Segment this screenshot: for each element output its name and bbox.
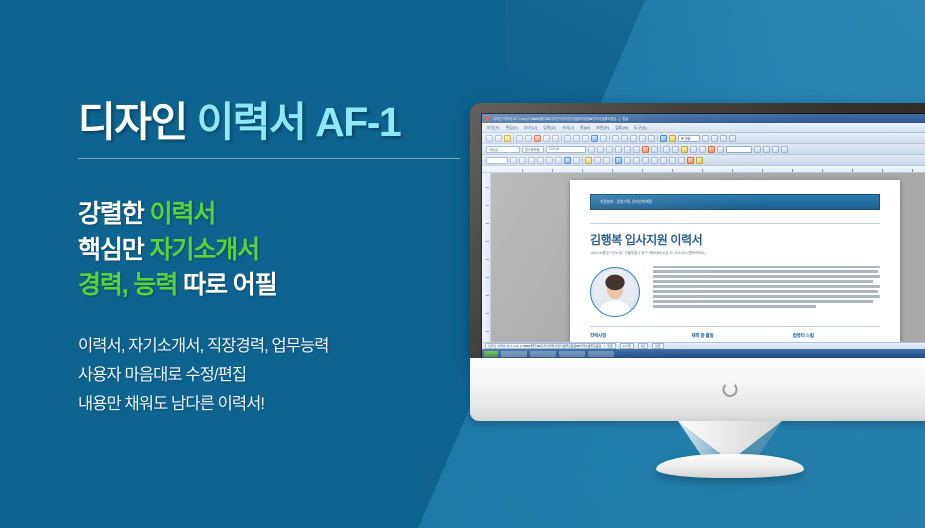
menu-item-security[interactable]: 보안(R) bbox=[596, 125, 609, 131]
tagline-3-highlight: 경력, 능력 bbox=[78, 271, 177, 299]
app-menubar: 파일(F) 편집(E) 보기(U) 입력(D) 서식(J) 쪽(W) 보안(R)… bbox=[482, 123, 925, 133]
insert-table-icon[interactable] bbox=[612, 135, 619, 142]
undo-icon[interactable] bbox=[543, 135, 550, 142]
resume-photo-wrapper bbox=[590, 266, 642, 317]
draw-arc-icon[interactable] bbox=[546, 157, 553, 164]
strikethrough-icon[interactable] bbox=[633, 146, 640, 153]
education-heading: 학력사항 bbox=[590, 333, 677, 339]
align-right-icon[interactable] bbox=[708, 146, 715, 153]
tagline-3-suffix: 따로 어필 bbox=[183, 271, 276, 299]
resume-intro-section bbox=[590, 266, 880, 317]
resume-title: 김행복 입사지원 이력서 bbox=[590, 231, 880, 248]
promo-copy-block: 디자인 이력서 AF-1 강렬한 이력서 핵심만 자기소개서 경력, 능력 따로… bbox=[78, 100, 478, 419]
redo-icon[interactable] bbox=[552, 135, 559, 142]
monitor-bezel: 디자인 이력서 AF-1.hwp [C:₩₩새폴더₩디자인이력서양식샘플모음집₩… bbox=[470, 103, 925, 358]
resume-rule-bottom bbox=[590, 326, 880, 327]
tagline-list: 강렬한 이력서 핵심만 자기소개서 경력, 능력 따로 어필 bbox=[78, 197, 478, 304]
highlight-icon[interactable] bbox=[651, 146, 658, 153]
tagline-2: 핵심만 자기소개서 bbox=[78, 233, 478, 269]
font-family-select[interactable]: 함초롬바탕 bbox=[522, 146, 544, 153]
subscript-icon[interactable] bbox=[672, 146, 679, 153]
promotional-banner: 디자인 이력서 AF-1 강렬한 이력서 핵심만 자기소개서 경력, 능력 따로… bbox=[0, 0, 925, 528]
format-brush-icon[interactable] bbox=[591, 135, 598, 142]
resume-intro-paragraph bbox=[653, 266, 880, 311]
zoom-out-icon[interactable] bbox=[711, 135, 718, 142]
font-color-icon[interactable] bbox=[642, 146, 649, 153]
resume-columns: 학력사항 서울특별시 행복대학교 졸업 1997.03~2000.02 재학 중… bbox=[590, 333, 880, 342]
resume-rule-top bbox=[590, 223, 880, 224]
menu-item-review[interactable]: 검토(H) bbox=[615, 125, 628, 131]
bullet-list-icon[interactable] bbox=[772, 146, 779, 153]
order-back-icon[interactable] bbox=[660, 157, 667, 164]
menu-item-tools[interactable]: 도구(K) bbox=[634, 125, 647, 131]
align-center-icon[interactable] bbox=[699, 146, 706, 153]
indent-increase-icon[interactable] bbox=[754, 146, 761, 153]
toolbar-separator bbox=[561, 134, 562, 142]
toolbar-standard: 폭 맞춤 bbox=[482, 133, 925, 144]
draw-textbox-icon[interactable] bbox=[573, 157, 580, 164]
align-objects-icon[interactable] bbox=[624, 157, 631, 164]
draw-polygon-icon[interactable] bbox=[555, 157, 562, 164]
start-button[interactable] bbox=[484, 351, 498, 357]
resume-field-text: 지원분야 : 경영기획, 온라인마케팅 bbox=[600, 200, 652, 205]
order-front-icon[interactable] bbox=[651, 157, 658, 164]
feature-bullet-3: 내용만 채워도 남다른 이력서! bbox=[78, 390, 478, 419]
headline-cyan-part: 이력서 AF-1 bbox=[197, 99, 401, 145]
toolbar-separator bbox=[660, 145, 661, 153]
tagline-2-prefix: 핵심만 bbox=[78, 236, 144, 264]
os-taskbar bbox=[482, 349, 925, 358]
help-icon[interactable] bbox=[729, 135, 736, 142]
menu-item-view[interactable]: 보기(U) bbox=[524, 125, 537, 131]
select-arrow-icon[interactable] bbox=[510, 157, 517, 164]
tagline-3: 경력, 능력 따로 어필 bbox=[78, 268, 478, 304]
underline-icon[interactable] bbox=[624, 146, 631, 153]
paste-icon[interactable] bbox=[582, 135, 589, 142]
resume-column-education: 학력사항 서울특별시 행복대학교 졸업 1997.03~2000.02 bbox=[590, 333, 677, 342]
tagline-1: 강렬한 이력서 bbox=[78, 197, 478, 233]
toolbar-separator bbox=[609, 134, 610, 142]
draw-rect-icon[interactable] bbox=[528, 157, 535, 164]
decrease-size-icon[interactable] bbox=[597, 146, 604, 153]
tagline-2-highlight: 자기소개서 bbox=[150, 236, 260, 264]
menu-item-input[interactable]: 입력(D) bbox=[543, 125, 556, 131]
power-ring-logo bbox=[723, 382, 738, 397]
indent-decrease-icon[interactable] bbox=[763, 146, 770, 153]
toolbar-separator bbox=[582, 156, 583, 164]
activities-heading: 재학 중 활동 bbox=[691, 333, 778, 339]
resume-page: 지원분야 : 경영기획, 온라인마케팅 김행복 입사지원 이력서 1984.06… bbox=[570, 180, 900, 342]
preview-icon[interactable] bbox=[525, 135, 532, 142]
bold-icon[interactable] bbox=[606, 146, 613, 153]
increase-size-icon[interactable] bbox=[588, 146, 595, 153]
zoom-level-select[interactable]: 폭 맞춤 bbox=[678, 135, 700, 142]
align-justify-icon[interactable] bbox=[717, 146, 724, 153]
object-fill-icon[interactable] bbox=[585, 157, 592, 164]
paragraph-style-select[interactable]: 바탕글 bbox=[486, 146, 520, 153]
toolbar-formatting: 바탕글 함초롬바탕 10.0 pt bbox=[482, 144, 925, 155]
tagline-1-prefix: 강렬한 bbox=[78, 200, 144, 228]
crop-image-icon[interactable] bbox=[678, 157, 685, 164]
font-size-select[interactable]: 10.0 pt bbox=[546, 146, 586, 153]
feature-bullet-1: 이력서, 자기소개서, 직장경력, 업무능력 bbox=[78, 332, 478, 361]
open-file-icon[interactable] bbox=[495, 135, 502, 142]
draw-ellipse-icon[interactable] bbox=[537, 157, 544, 164]
app-titlebar: 디자인 이력서 AF-1.hwp [C:₩₩새폴더₩디자인이력서양식샘플모음집₩… bbox=[482, 114, 925, 123]
zoom-in-icon[interactable] bbox=[702, 135, 709, 142]
flip-object-icon[interactable] bbox=[642, 157, 649, 164]
resume-field-banner: 지원분야 : 경영기획, 온라인마케팅 bbox=[590, 194, 880, 210]
monitor-mockup: 디자인 이력서 AF-1.hwp [C:₩₩새폴더₩디자인이력서양식샘플모음집₩… bbox=[470, 103, 925, 421]
feature-bullet-2: 사용자 마음대로 수정/편집 bbox=[78, 361, 478, 390]
resume-column-skills: 컴퓨터 스킬 MS-Excel bbox=[793, 333, 880, 342]
insert-equation-icon[interactable] bbox=[648, 135, 655, 142]
menu-item-page[interactable]: 쪽(W) bbox=[580, 125, 590, 131]
border-icon[interactable] bbox=[681, 146, 688, 153]
object-line-icon[interactable] bbox=[594, 157, 601, 164]
draw-curve-icon[interactable] bbox=[564, 157, 571, 164]
word-processor-window: 디자인 이력서 AF-1.hwp [C:₩₩새폴더₩디자인이력서양식샘플모음집₩… bbox=[482, 114, 925, 358]
superscript-icon[interactable] bbox=[663, 146, 670, 153]
app-statusbar: 디자인 이력서 AF-1.hwp [C:₩₩새폴더₩디자인이력서양식샘플모음집₩… bbox=[482, 342, 925, 349]
headline-white-part: 디자인 bbox=[78, 99, 187, 145]
save-icon[interactable] bbox=[504, 135, 511, 142]
monitor-screen: 디자인 이력서 AF-1.hwp [C:₩₩새폴더₩디자인이력서양식샘플모음집₩… bbox=[481, 113, 925, 358]
find-icon[interactable] bbox=[600, 135, 607, 142]
app-logo-icon bbox=[485, 116, 490, 121]
app-document-title: 디자인 이력서 AF-1.hwp [C:₩₩새폴더₩디자인이력서양식샘플모음집₩… bbox=[493, 116, 925, 121]
fit-page-icon[interactable] bbox=[720, 135, 727, 142]
menu-item-edit[interactable]: 편집(E) bbox=[505, 125, 518, 131]
taskbar-item[interactable] bbox=[559, 351, 585, 357]
taskbar-item[interactable] bbox=[588, 351, 614, 357]
insert-chart-icon[interactable] bbox=[621, 135, 628, 142]
resume-title-rest: 입사지원 이력서 bbox=[625, 233, 702, 247]
page-title: 디자인 이력서 AF-1 bbox=[78, 100, 478, 144]
wrap-text-icon[interactable] bbox=[669, 157, 676, 164]
monitor-base bbox=[656, 454, 804, 478]
object-properties-icon[interactable] bbox=[687, 157, 694, 164]
insert-shape-icon[interactable] bbox=[639, 135, 646, 142]
italic-icon[interactable] bbox=[615, 146, 622, 153]
number-list-icon[interactable] bbox=[781, 146, 788, 153]
toolbar-separator bbox=[612, 156, 613, 164]
resume-applicant-name: 김행복 bbox=[590, 233, 622, 247]
document-workspace: 지원분야 : 경영기획, 온라인마케팅 김행복 입사지원 이력서 1984.06… bbox=[482, 173, 925, 342]
print-icon[interactable] bbox=[516, 135, 523, 142]
new-document-icon[interactable] bbox=[486, 135, 493, 142]
toolbar-drawing bbox=[482, 155, 925, 166]
monitor-chin bbox=[470, 358, 925, 421]
memo-icon[interactable] bbox=[669, 135, 676, 142]
line-spacing-select[interactable] bbox=[726, 146, 752, 153]
title-divider bbox=[78, 158, 460, 159]
spellcheck-icon[interactable] bbox=[660, 135, 667, 142]
rotate-object-icon[interactable] bbox=[633, 157, 640, 164]
taskbar-item[interactable] bbox=[530, 351, 556, 357]
resume-subtitle: 1984.06월생 / 만30세 / 서울특별시 중구 세종대로50길 00 1… bbox=[590, 251, 880, 256]
vertical-ruler[interactable] bbox=[482, 173, 491, 342]
page-scroll-area[interactable]: 지원분야 : 경영기획, 온라인마케팅 김행복 입사지원 이력서 1984.06… bbox=[491, 173, 925, 342]
align-left-icon[interactable] bbox=[690, 146, 697, 153]
draw-line-icon[interactable] bbox=[519, 157, 526, 164]
menu-item-format[interactable]: 서식(J) bbox=[562, 125, 574, 131]
object-shadow-icon[interactable] bbox=[603, 157, 610, 164]
taskbar-item[interactable] bbox=[501, 351, 527, 357]
group-objects-icon[interactable] bbox=[615, 157, 622, 164]
insert-image-icon[interactable] bbox=[630, 135, 637, 142]
horizontal-ruler[interactable] bbox=[482, 166, 925, 173]
cut-icon[interactable] bbox=[564, 135, 571, 142]
resume-column-activities: 재학 중 활동 HAPPY YEONFEEL 운영진 아학연수 2003.06~… bbox=[691, 333, 778, 342]
toolbar-separator bbox=[657, 134, 658, 142]
copy-icon[interactable] bbox=[573, 135, 580, 142]
tagline-1-highlight: 이력서 bbox=[150, 200, 216, 228]
applicant-photo bbox=[590, 267, 640, 317]
menu-item-file[interactable]: 파일(F) bbox=[487, 125, 499, 131]
draw-object-select[interactable] bbox=[486, 157, 508, 164]
toolbar-separator bbox=[513, 134, 514, 142]
skills-heading: 컴퓨터 스킬 bbox=[793, 333, 880, 339]
pdf-export-icon[interactable] bbox=[534, 135, 541, 142]
feature-bullet-list: 이력서, 자기소개서, 직장경력, 업무능력 사용자 마음대로 수정/편집 내용… bbox=[78, 332, 478, 419]
layer-icon[interactable] bbox=[696, 157, 703, 164]
